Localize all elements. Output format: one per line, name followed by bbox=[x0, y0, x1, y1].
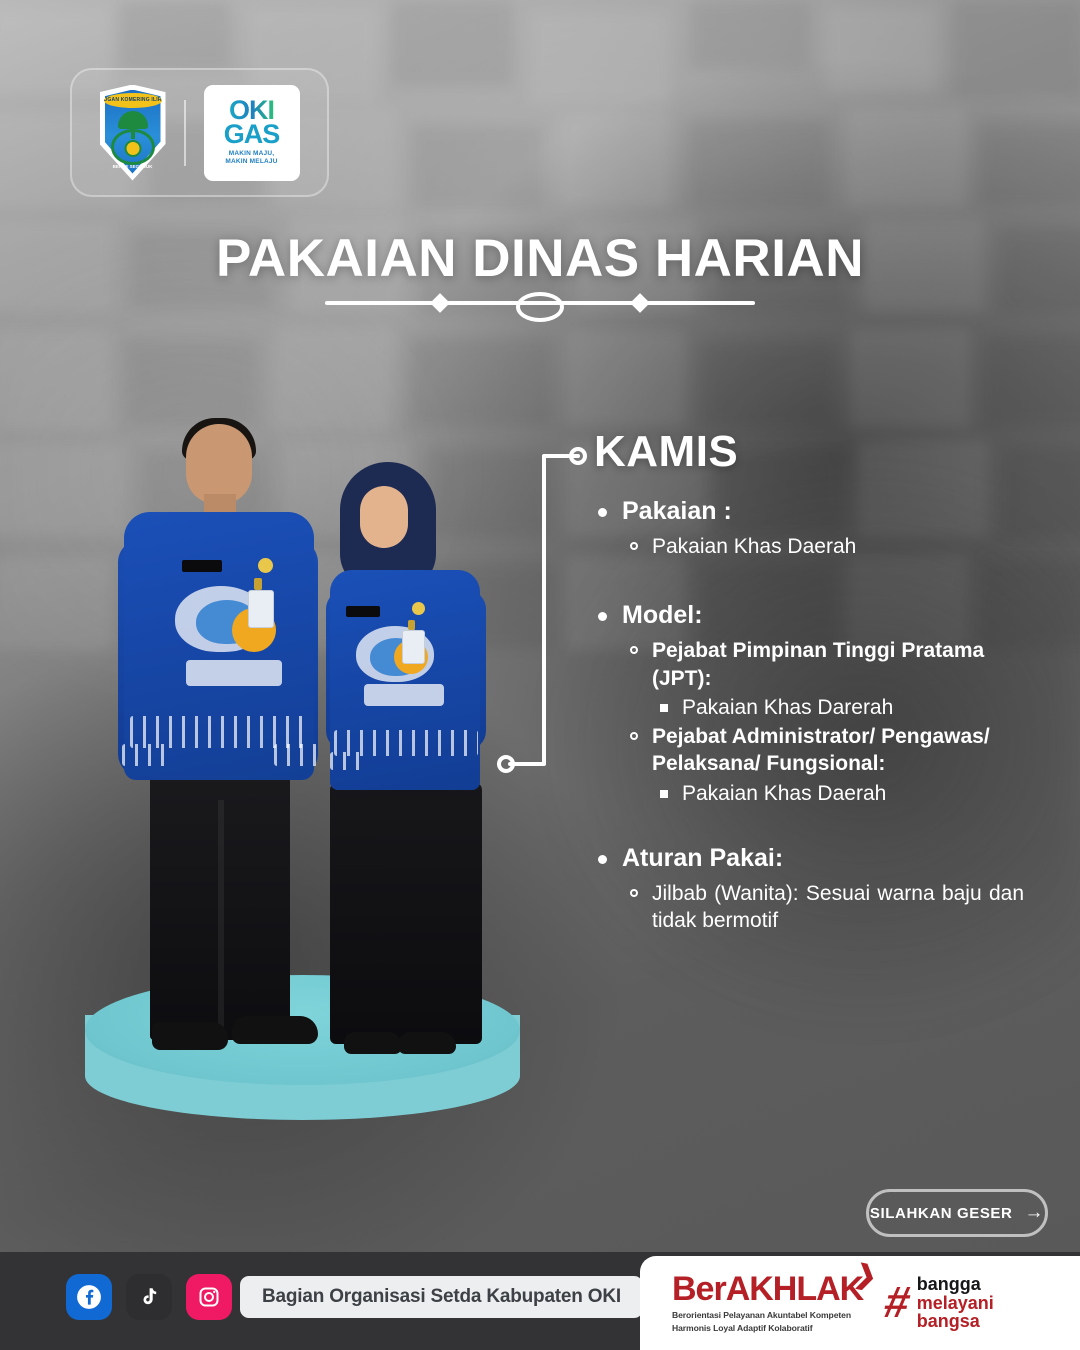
berakhlak-wordmark: BerAKHLAK bbox=[672, 1270, 863, 1308]
page-title: PAKAIAN DINAS HARIAN bbox=[0, 228, 1080, 289]
tiktok-icon[interactable] bbox=[126, 1274, 172, 1320]
bangga-line1: bangga bbox=[917, 1275, 994, 1293]
organization-label: Bagian Organisasi Setda Kabupaten OKI bbox=[240, 1276, 643, 1318]
female-id-card bbox=[402, 630, 425, 664]
female-shoe-left bbox=[344, 1032, 402, 1054]
logo-separator bbox=[184, 100, 186, 166]
branding-panel: BerAKHLAK ❯ Berorientasi Pelayanan Akunt… bbox=[640, 1256, 1080, 1350]
oki-gas-logo: OKI GAS MAKIN MAJU, MAKIN MELAJU bbox=[204, 85, 300, 181]
berakhlak-tagline-1: Berorientasi Pelayanan Akuntabel Kompete… bbox=[672, 1309, 863, 1321]
female-name-tag bbox=[346, 606, 380, 617]
crest-band-text: OGAN KOMERING ILIR bbox=[104, 93, 162, 108]
male-id-card bbox=[248, 590, 274, 628]
male-shoe-right bbox=[232, 1016, 318, 1044]
content-panel: KAMIS Pakaian : Pakaian Khas Daerah Mode… bbox=[594, 430, 1024, 945]
section-subitem: Pakaian Khas Daerah bbox=[652, 780, 1024, 807]
section-label: Model: bbox=[594, 600, 1024, 631]
arrow-right-icon: → bbox=[1024, 1202, 1044, 1224]
bangga-melayani-bangsa-logo: # bangga melayani bangsa bbox=[885, 1275, 994, 1330]
oki-regency-crest-icon: OGAN KOMERING ILIR BENDE SEGUGUK bbox=[100, 85, 166, 181]
hash-icon: # bbox=[881, 1283, 914, 1323]
section-label: Pakaian : bbox=[594, 496, 1024, 527]
bangga-line3: bangsa bbox=[917, 1312, 994, 1330]
berakhlak-logo: BerAKHLAK ❯ Berorientasi Pelayanan Akunt… bbox=[672, 1272, 863, 1333]
section-item: Pejabat Administrator/ Pengawas/ Pelaksa… bbox=[622, 723, 1024, 778]
okigas-tagline-2: MAKIN MELAJU bbox=[225, 158, 277, 166]
section-pakaian: Pakaian : Pakaian Khas Daerah bbox=[594, 496, 1024, 560]
berakhlak-tagline-2: Harmonis Loyal Adaptif Kolaboratif bbox=[672, 1322, 863, 1334]
divider-diamond-left bbox=[430, 293, 450, 313]
section-item: Jilbab (Wanita): Sesuai warna baju dan t… bbox=[622, 880, 1024, 935]
okigas-tagline-1: MAKIN MAJU, bbox=[225, 150, 277, 158]
male-shoe-left bbox=[152, 1022, 228, 1050]
title-divider bbox=[325, 292, 755, 314]
female-lapel-emblem bbox=[412, 602, 425, 615]
male-lapel-emblem bbox=[258, 558, 273, 573]
bangga-line2: melayani bbox=[917, 1294, 994, 1312]
okigas-line2: GAS bbox=[224, 122, 280, 146]
divider-diamond-right bbox=[630, 293, 650, 313]
berakhlak-arrow-icon: ❯ bbox=[852, 1258, 880, 1293]
section-label: Aturan Pakai: bbox=[594, 843, 1024, 874]
callout-connector bbox=[492, 440, 592, 780]
facebook-icon[interactable] bbox=[66, 1274, 112, 1320]
swipe-button-label: SILAHKAN GESER bbox=[870, 1205, 1013, 1222]
section-item: Pejabat Pimpinan Tinggi Pratama (JPT): bbox=[622, 637, 1024, 692]
section-subitem: Pakaian Khas Darerah bbox=[652, 694, 1024, 721]
section-model: Model: Pejabat Pimpinan Tinggi Pratama (… bbox=[594, 600, 1024, 807]
swipe-button[interactable]: SILAHKAN GESER → bbox=[866, 1189, 1048, 1237]
crest-foot-text: BENDE SEGUGUK bbox=[113, 164, 153, 169]
section-item: Pakaian Khas Daerah bbox=[622, 533, 1024, 560]
male-name-tag bbox=[182, 560, 222, 572]
header-logo-badge: OGAN KOMERING ILIR BENDE SEGUGUK OKI GAS… bbox=[70, 68, 329, 197]
section-aturan-pakai: Aturan Pakai: Jilbab (Wanita): Sesuai wa… bbox=[594, 843, 1024, 935]
social-links bbox=[66, 1274, 232, 1320]
divider-ellipse bbox=[516, 292, 564, 322]
day-heading: KAMIS bbox=[594, 430, 1024, 474]
female-shoe-right bbox=[398, 1032, 456, 1054]
instagram-icon[interactable] bbox=[186, 1274, 232, 1320]
poster-canvas: OGAN KOMERING ILIR BENDE SEGUGUK OKI GAS… bbox=[0, 0, 1080, 1350]
